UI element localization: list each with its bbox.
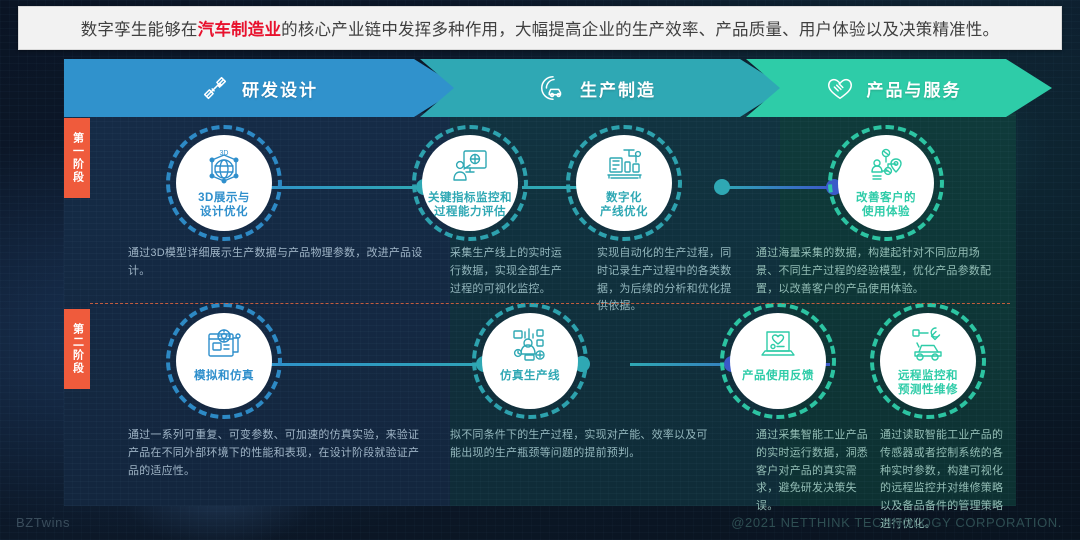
arrow-label: 研发设计: [242, 76, 318, 101]
phase-matrix: 第一阶段 第二阶段 3D: [64, 113, 1016, 506]
stage-row-2: 模拟和仿真 通过一系列可重复、可变参数、可加速的仿真实验，来验证产品在不同外部环…: [90, 305, 1016, 506]
footer-copyright: @2021 NETTHINK TECHNOLOGY CORPORATION.: [731, 515, 1062, 530]
car-gear-icon: [538, 73, 568, 103]
node-caption-kpi-monitor: 采集生产线上的实时运行数据，实现全部生产过程的可视化监控。: [450, 245, 568, 298]
arrow-product-service[interactable]: 产品与服务: [746, 59, 1052, 117]
node-ring: [472, 303, 588, 419]
node-ring: [166, 125, 282, 241]
node-ring: [412, 125, 528, 241]
arrow-label: 产品与服务: [867, 76, 962, 101]
handshake-heart-icon: [825, 73, 855, 103]
node-caption-simulation: 通过一系列可重复、可变参数、可加速的仿真实验，来验证产品在不同外部环境下的性能和…: [128, 427, 428, 480]
node-virtual-production-line[interactable]: 仿真生产线: [482, 313, 578, 409]
header-banner: 数字孪生能够在汽车制造业的核心产业链中发挥多种作用，大幅提高企业的生产效率、产品…: [18, 6, 1062, 50]
connector-1-3: [720, 186, 830, 189]
node-product-feedback[interactable]: 产品使用反馈: [730, 313, 826, 409]
node-caption-customer-experience: 通过海量采集的数据，构建起针对不同应用场景、不同生产过程的经验模型，优化产品参数…: [756, 245, 1000, 298]
arrow-rd-design[interactable]: 研发设计: [64, 59, 460, 117]
arrow-manufacturing[interactable]: 生产制造: [420, 59, 786, 117]
node-customer-experience[interactable]: 改善客户的 使用体验: [838, 135, 934, 231]
stage-badge-1: 第一阶段: [64, 118, 90, 198]
footer-brand: BZTwins: [16, 515, 70, 530]
node-ring: [566, 125, 682, 241]
node-ring: [166, 303, 282, 419]
node-simulation[interactable]: 模拟和仿真: [176, 313, 272, 409]
arrow-label: 生产制造: [580, 76, 656, 101]
stage-badge-2: 第二阶段: [64, 309, 90, 389]
header-highlight: 汽车制造业: [198, 21, 282, 39]
node-kpi-monitor[interactable]: 关键指标监控和 过程能力评估: [422, 135, 518, 231]
node-caption-3d-display: 通过3D模型详细展示生产数据与产品物理参数，改进产品设计。: [128, 245, 433, 281]
node-caption-product-feedback: 通过采集智能工业产品的实时运行数据，洞悉客户对产品的真实需求，避免研发决策失误。: [756, 427, 874, 516]
phase-arrow-bar: 研发设计 生产制造 产品与: [64, 59, 1052, 117]
header-text: 数字孪生能够在汽车制造业的核心产业链中发挥多种作用，大幅提高企业的生产效率、产品…: [81, 16, 1000, 40]
node-ring: [870, 303, 986, 419]
node-caption-virtual-production-line: 拟不同条件下的生产过程，实现对产能、效率以及可能出现的生产瓶颈等问题的提前预判。: [450, 427, 708, 463]
node-3d-display[interactable]: 3D 3D展示与 设计优化: [176, 135, 272, 231]
node-ring: [720, 303, 836, 419]
connector-knob: [714, 179, 730, 195]
stage-divider: [90, 303, 1010, 304]
node-remote-monitor[interactable]: 远程监控和 预测性维修: [880, 313, 976, 409]
header-text-before: 数字孪生能够在: [81, 21, 198, 39]
stage-row-1: 3D 3D展示与 设计优化 通过3D模型详细展示生产数据与产品物理参数，改进产品…: [90, 113, 1016, 303]
header-text-after: 的核心产业链中发挥多种作用，大幅提高企业的生产效率、产品质量、用户体验以及决策精…: [281, 21, 999, 39]
node-digital-line[interactable]: 数字化 产线优化: [576, 135, 672, 231]
ruler-pencil-icon: [200, 73, 230, 103]
node-ring: [828, 125, 944, 241]
